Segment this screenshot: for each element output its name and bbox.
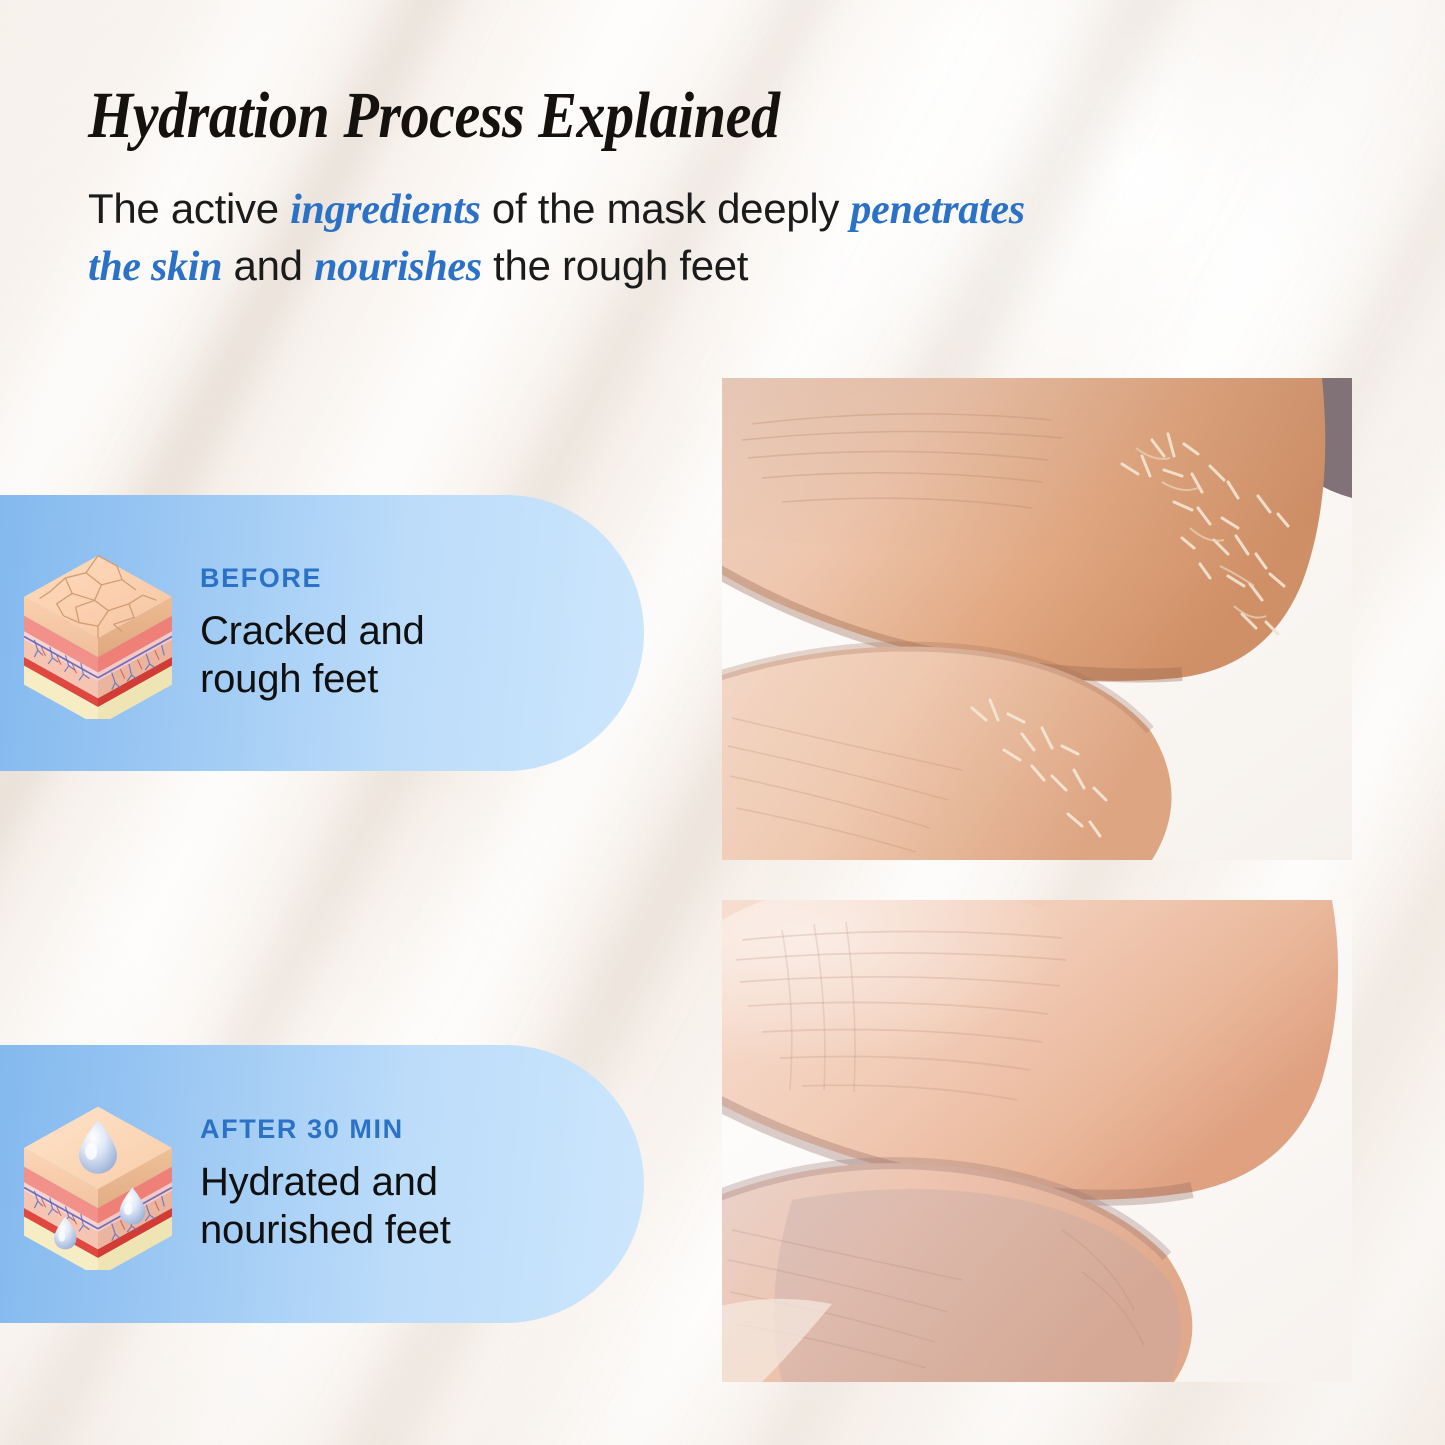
step-kicker-before: BEFORE [200, 563, 425, 594]
step-kicker-after: AFTER 30 MIN [200, 1114, 451, 1145]
photo-after-smooth-heels [722, 900, 1352, 1382]
subtitle-text-2: of the mask deeply [481, 185, 851, 232]
subtitle-accent-ingredients: ingredients [290, 187, 480, 233]
step-card-before: BEFORE Cracked and rough feet [0, 495, 644, 771]
subtitle-text-4: the rough feet [482, 242, 748, 289]
step-text-after: AFTER 30 MIN Hydrated and nourished feet [196, 1114, 481, 1253]
skin-cross-section-cracked-icon [0, 495, 196, 771]
page-title: Hydration Process Explained [88, 82, 968, 151]
subtitle-accent-nourishes: nourishes [314, 244, 482, 290]
subtitle-text-3: and [222, 242, 314, 289]
step-body-after: Hydrated and nourished feet [200, 1159, 451, 1253]
page-subtitle: The active ingredients of the mask deepl… [88, 181, 1048, 296]
infographic-canvas: Hydration Process Explained The active i… [0, 0, 1445, 1445]
skin-cross-section-hydrated-icon [0, 1045, 196, 1323]
header-block: Hydration Process Explained The active i… [88, 82, 1088, 295]
step-card-after: AFTER 30 MIN Hydrated and nourished feet [0, 1045, 644, 1323]
step-body-before: Cracked and rough feet [200, 608, 425, 702]
step-text-before: BEFORE Cracked and rough feet [196, 563, 455, 702]
subtitle-text-1: The active [88, 185, 290, 232]
photo-before-cracked-heels [722, 378, 1352, 860]
